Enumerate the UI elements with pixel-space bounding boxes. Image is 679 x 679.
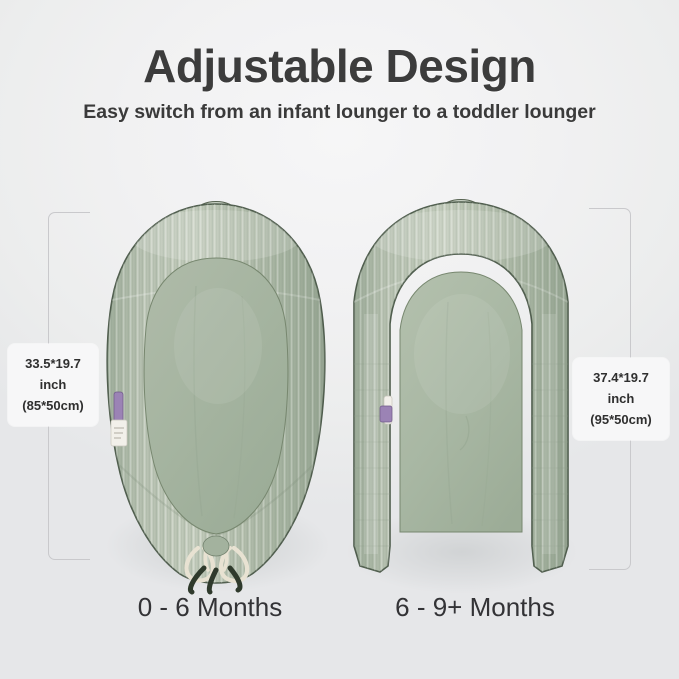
product-image-infant-lounger xyxy=(92,196,340,592)
measure-unit: inch xyxy=(18,374,88,395)
product-image-toddler-lounger xyxy=(336,194,586,592)
measurement-label-left: 33.5*19.7 inch (85*50cm) xyxy=(8,344,98,426)
measurement-label-right: 37.4*19.7 inch (95*50cm) xyxy=(573,358,669,440)
measure-metric: (95*50cm) xyxy=(583,409,659,430)
measure-unit: inch xyxy=(583,388,659,409)
measure-metric: (85*50cm) xyxy=(18,395,88,416)
page-title: Adjustable Design xyxy=(0,42,679,90)
heading-block: Adjustable Design Easy switch from an in… xyxy=(0,42,679,124)
product-infographic: Adjustable Design Easy switch from an in… xyxy=(0,0,679,679)
page-subtitle: Easy switch from an infant lounger to a … xyxy=(0,102,679,123)
measure-dimensions: 33.5*19.7 xyxy=(18,353,88,374)
caption-toddler-lounger: 6 - 9+ Months xyxy=(360,592,590,623)
caption-infant-lounger: 0 - 6 Months xyxy=(100,592,320,623)
measure-dimensions: 37.4*19.7 xyxy=(583,367,659,388)
